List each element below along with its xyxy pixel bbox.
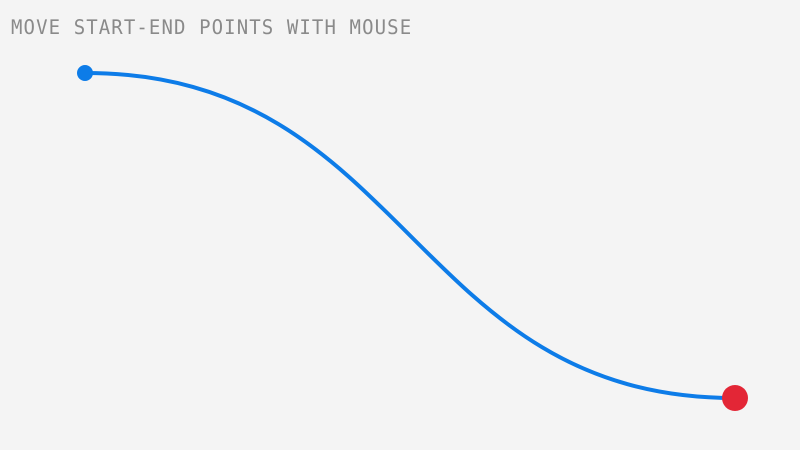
end-point-handle[interactable] — [722, 385, 748, 411]
bezier-canvas[interactable] — [0, 0, 800, 450]
app-root: MOVE START-END POINTS WITH MOUSE — [0, 0, 800, 450]
start-point-handle[interactable] — [77, 65, 93, 81]
